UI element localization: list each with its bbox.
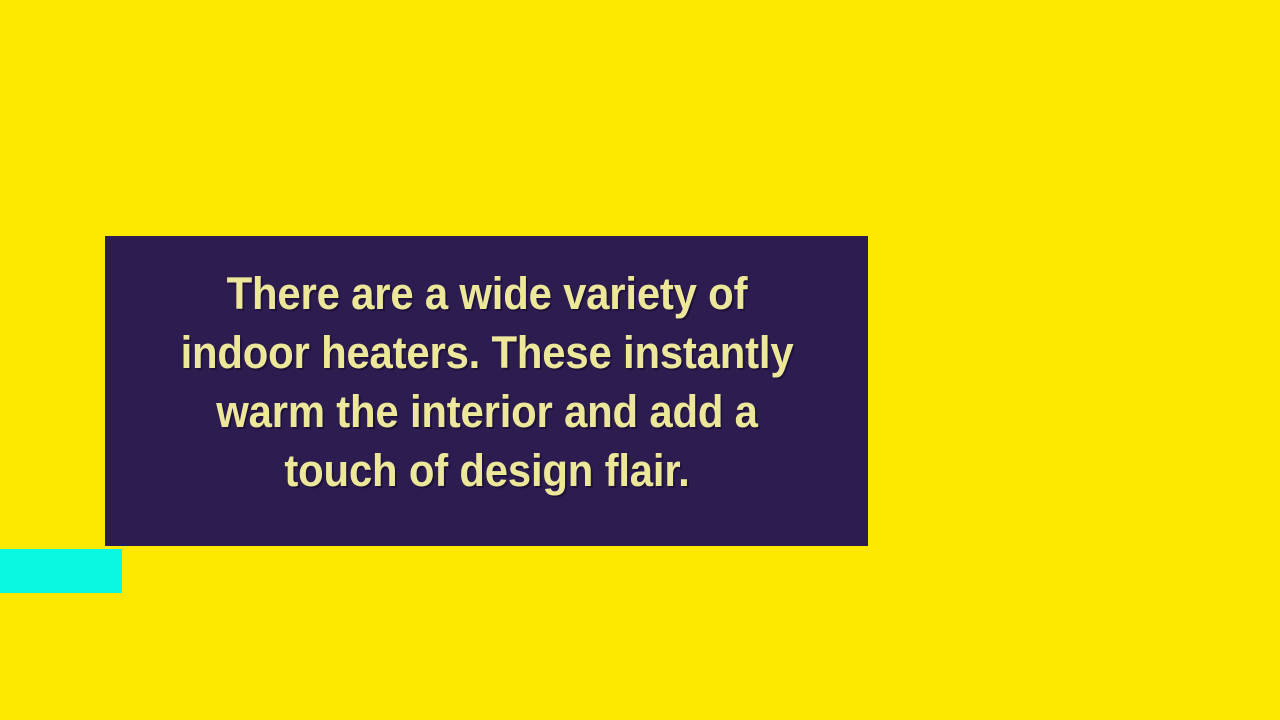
caption-line-3: warm the interior and add a [87,382,887,441]
slide-canvas: There are a wide variety of indoor heate… [0,0,1280,720]
cyan-accent-bar [0,549,122,593]
caption-line-1: There are a wide variety of [87,264,887,323]
caption-line-2: indoor heaters. These instantly [87,323,887,382]
caption-line-4: touch of design flair. [87,441,887,500]
caption-text: There are a wide variety of indoor heate… [57,264,917,500]
caption-panel: There are a wide variety of indoor heate… [105,236,868,546]
